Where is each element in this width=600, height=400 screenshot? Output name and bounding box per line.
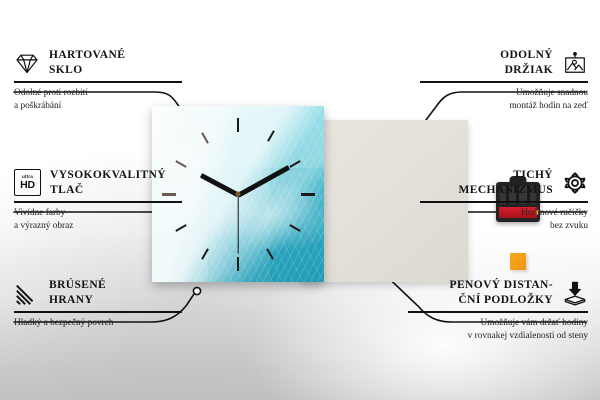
marker-edges (193, 287, 200, 294)
feature-description: Hladký a bezpečný povrch (14, 317, 182, 330)
clock-tick (237, 257, 239, 271)
feature-header: ODOLNÝ DRŽIAK (420, 48, 588, 77)
feature-divider (420, 81, 588, 82)
gear-icon (562, 170, 588, 196)
feature-title: BRÚSENÉ HRANY (49, 278, 106, 307)
feature-durable-hanger: ODOLNÝ DRŽIAK Umožňuje snadnou montáž ho… (420, 48, 588, 113)
feature-divider (14, 81, 182, 82)
feature-foam-spacers: PENOVÝ DISTAN- ČNÍ PODLOŽKY Umožňuje vám… (408, 278, 588, 343)
feature-description: Odolné proti rozbití a poškrábání (14, 87, 182, 113)
feature-title: VYSOKOKVALITNÝ TLAČ (50, 168, 166, 197)
feature-header: HARTOVANÉ SKLO (14, 48, 182, 77)
clock-tick (237, 118, 239, 132)
feature-description: Hodinové ručičky bez zvuku (420, 207, 588, 233)
feature-title: ODOLNÝ DRŽIAK (500, 48, 553, 77)
infographic-canvas: HARTOVANÉ SKLO Odolné proti rozbití a po… (0, 0, 600, 400)
foam-layers-arrow-icon (562, 280, 588, 306)
framed-picture-icon (562, 50, 588, 76)
foam-spacer-pad (510, 253, 526, 270)
feature-tempered-glass: HARTOVANÉ SKLO Odolné proti rozbití a po… (14, 48, 182, 113)
feature-header: PENOVÝ DISTAN- ČNÍ PODLOŽKY (408, 278, 588, 307)
diamond-icon (14, 50, 40, 76)
feature-description: Vivídne farby a výrazný obraz (14, 207, 182, 233)
feature-polished-edges: BRÚSENÉ HRANY Hladký a bezpečný povrch (14, 278, 182, 330)
feature-divider (408, 311, 588, 312)
feature-divider (14, 311, 182, 312)
ultra-hd-badge-icon: ultra HD (14, 169, 41, 196)
diagonal-lines-icon (14, 280, 40, 306)
feature-description: Umožňuje vám držať hodiny v rovnakej vzd… (408, 317, 588, 343)
feature-silent-mechanism: TICHÝ MECHANIZMUS Hodinové ručičky bez z… (420, 168, 588, 233)
feature-title: PENOVÝ DISTAN- ČNÍ PODLOŽKY (450, 278, 553, 307)
clock-center-cap (236, 192, 241, 197)
feature-header: BRÚSENÉ HRANY (14, 278, 182, 307)
feature-high-quality-print: ultra HD VYSOKOKVALITNÝ TLAČ Vivídne far… (14, 168, 182, 233)
feature-header: TICHÝ MECHANIZMUS (420, 168, 588, 197)
feature-title: HARTOVANÉ SKLO (49, 48, 125, 77)
clock-tick (301, 193, 315, 196)
feature-description: Umožňuje snadnou montáž hodin na zeď (420, 87, 588, 113)
feature-header: ultra HD VYSOKOKVALITNÝ TLAČ (14, 168, 182, 197)
feature-title: TICHÝ MECHANIZMUS (459, 168, 554, 197)
clock-second-hand (237, 194, 238, 254)
feature-divider (14, 201, 182, 202)
feature-divider (420, 201, 588, 202)
